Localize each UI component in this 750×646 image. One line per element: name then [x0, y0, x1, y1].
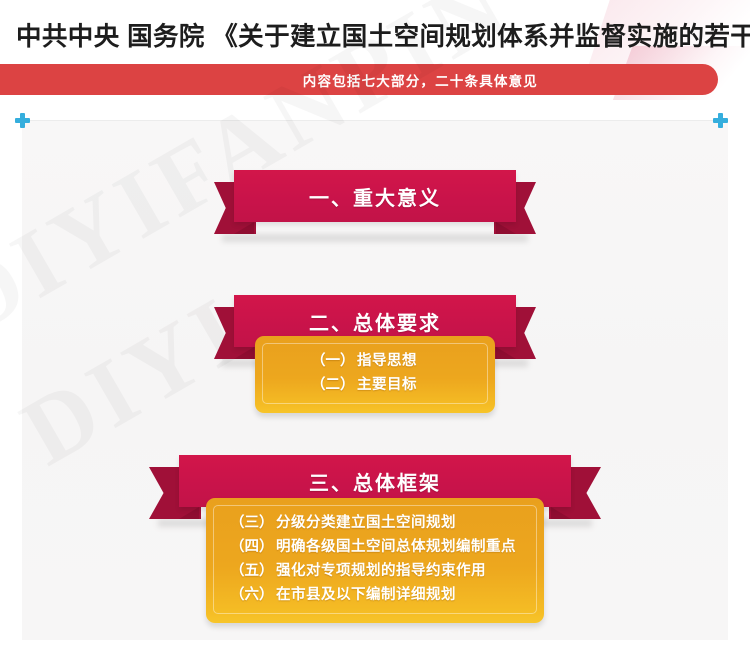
cross-marker-icon-left: [15, 113, 30, 128]
cross-marker-icon-right: [713, 113, 728, 128]
item-label: 在市县及以下编制详细规划: [276, 583, 456, 607]
item-label: 分级分类建立国土空间规划: [276, 511, 456, 535]
list-item: （五） 强化对专项规划的指导约束作用: [206, 559, 544, 583]
list-item: （二） 主要目标: [255, 373, 495, 397]
item-label: 明确各级国土空间总体规划编制重点: [276, 535, 516, 559]
list-item: （一） 指导思想: [255, 349, 495, 373]
item-label: 主要目标: [357, 373, 417, 397]
item-number: （二）: [311, 373, 357, 397]
item-number: （五）: [230, 559, 276, 583]
section-3-item-card: （三） 分级分类建立国土空间规划 （四） 明确各级国土空间总体规划编制重点 （五…: [206, 498, 544, 623]
list-item: （六） 在市县及以下编制详细规划: [206, 583, 544, 607]
section-1-title: 一、重大意义: [309, 182, 441, 211]
section-major-significance: 一、重大意义: [0, 170, 750, 222]
item-number: （四）: [230, 535, 276, 559]
infographic-page: 中共中央 国务院 《关于建立国土空间规划体系并监督实施的若干意见》 内容包括七大…: [0, 0, 750, 646]
section-2-item-list: （一） 指导思想 （二） 主要目标: [255, 349, 495, 397]
item-number: （一）: [311, 349, 357, 373]
section-3-item-list: （三） 分级分类建立国土空间规划 （四） 明确各级国土空间总体规划编制重点 （五…: [206, 511, 544, 607]
section-3-title: 三、总体框架: [309, 467, 441, 496]
subtitle-banner: 内容包括七大部分，二十条具体意见: [0, 64, 718, 95]
subtitle-text: 内容包括七大部分，二十条具体意见: [303, 70, 538, 90]
section-2-item-card: （一） 指导思想 （二） 主要目标: [255, 336, 495, 413]
ribbon-shadow-1: [222, 234, 528, 242]
item-number: （六）: [230, 583, 276, 607]
page-title: 中共中央 国务院 《关于建立国土空间规划体系并监督实施的若干意见》: [16, 20, 750, 54]
section-2-title: 二、总体要求: [309, 307, 441, 336]
section-overall-framework: 三、总体框架 （三） 分级分类建立国土空间规划 （四） 明确各级国土空间总体规划…: [0, 455, 750, 623]
section-overall-requirements: 二、总体要求 （一） 指导思想 （二） 主要目标: [0, 295, 750, 413]
item-number: （三）: [230, 511, 276, 535]
item-label: 强化对专项规划的指导约束作用: [276, 559, 486, 583]
ribbon-banner-1: 一、重大意义: [0, 170, 750, 222]
ribbon-bar-1: 一、重大意义: [234, 170, 516, 222]
item-label: 指导思想: [357, 349, 417, 373]
list-item: （四） 明确各级国土空间总体规划编制重点: [206, 535, 544, 559]
list-item: （三） 分级分类建立国土空间规划: [206, 511, 544, 535]
page-header: 中共中央 国务院 《关于建立国土空间规划体系并监督实施的若干意见》 内容包括七大…: [0, 0, 750, 100]
